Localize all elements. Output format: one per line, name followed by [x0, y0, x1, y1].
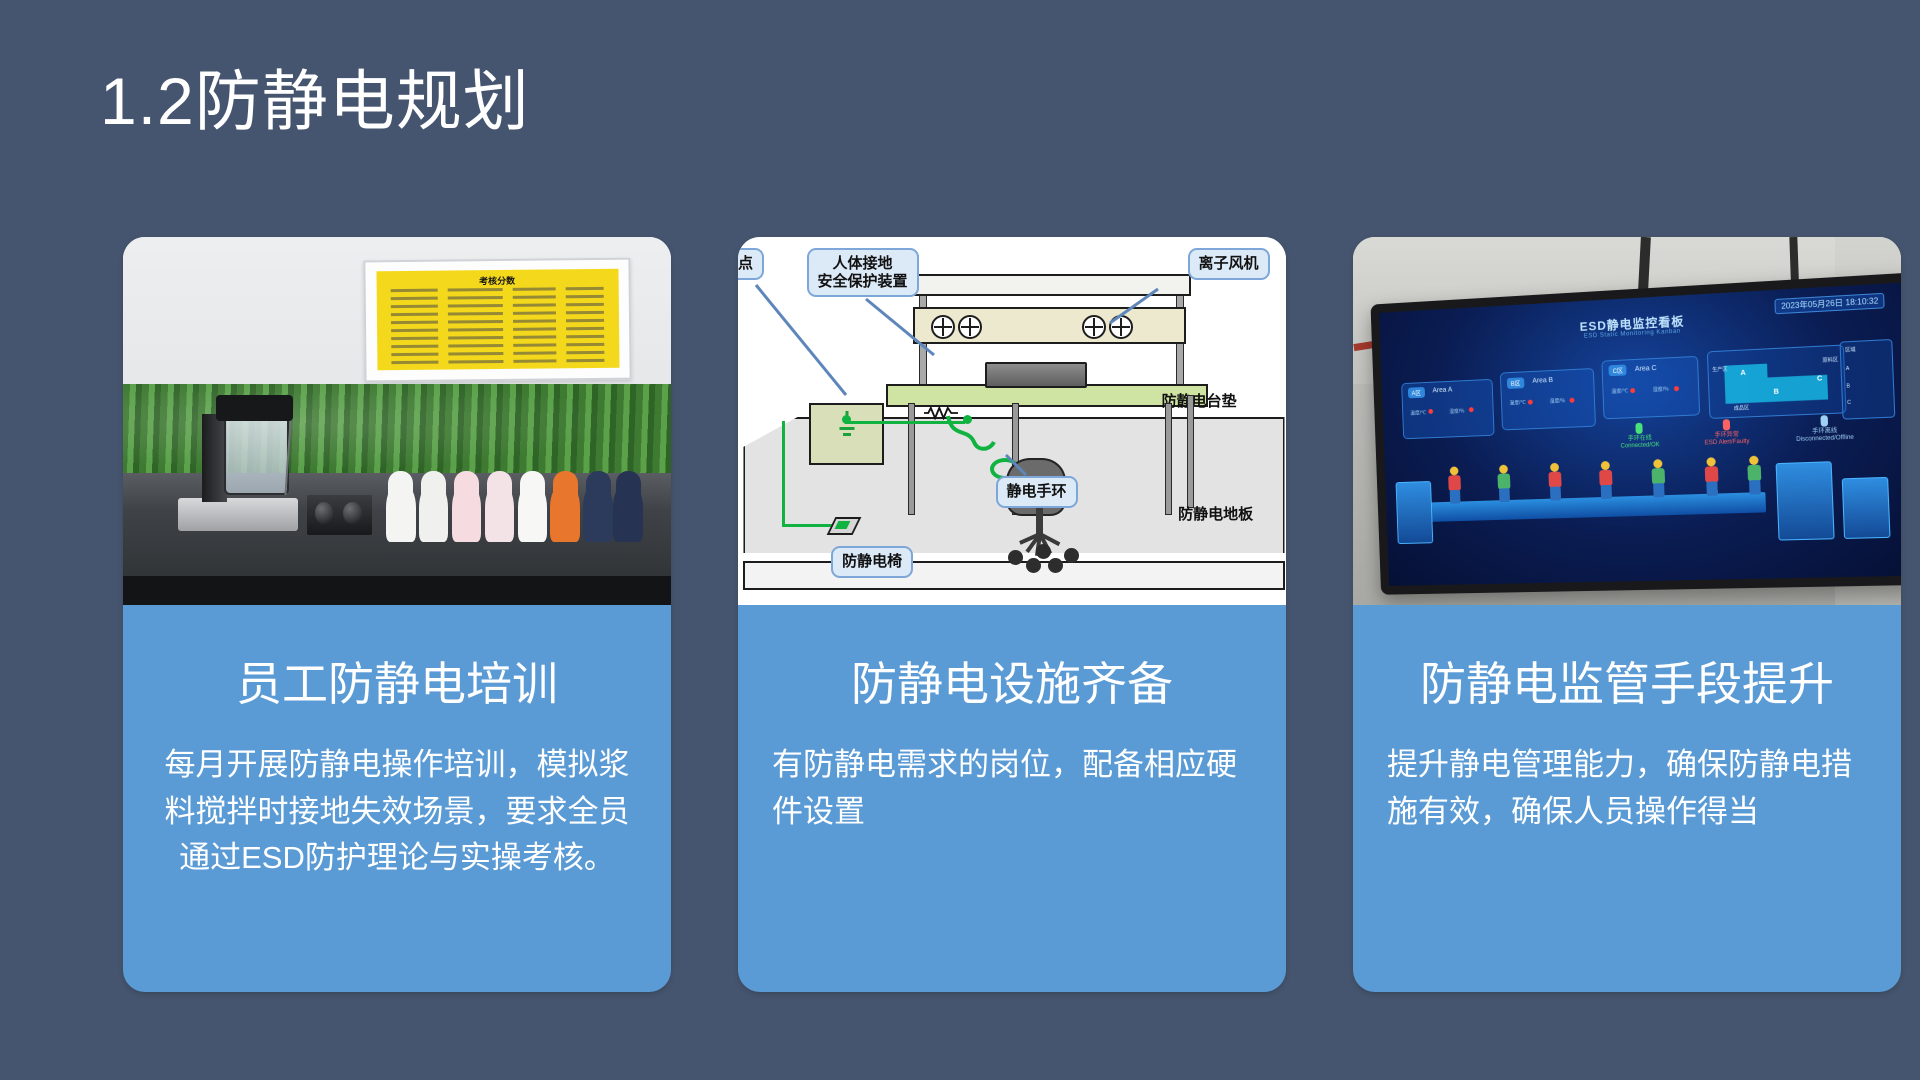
worker-avatar — [1743, 454, 1767, 518]
kanban-factory-map: 生产区 原料区 成品区 A B C — [1706, 344, 1846, 419]
status-dot — [1570, 397, 1575, 402]
esd-kanban-photo: 2023年05月26日 18:10:32 ESD静电监控看板 ESD Stati… — [1353, 237, 1901, 605]
card-1-image: 考核分数 — [123, 237, 671, 605]
bench-leg — [1187, 395, 1194, 507]
card-title: 防静电设施齐备 — [764, 657, 1260, 712]
kanban-area-panel: B区 Area B 温度/℃ 湿度/% — [1500, 368, 1596, 430]
callout-esd-chair: 防静电椅 — [831, 546, 913, 578]
table-row — [391, 351, 604, 359]
fan-port-icon — [931, 315, 955, 339]
slide-root: 1.2防静电规划 考核分数 — [0, 0, 1920, 1080]
legend-connected: 手环在线 Connected/OK — [1620, 421, 1660, 451]
legend-label-cn: 手环离线 — [1812, 427, 1837, 434]
map-label-finished: 成品区 — [1734, 403, 1750, 411]
metric-temperature: 温度/℃ — [1410, 409, 1426, 416]
card-esd-supervision[interactable]: 2023年05月26日 18:10:32 ESD静电监控看板 ESD Stati… — [1353, 237, 1901, 992]
esd-workbench-diagram: 防静电台垫 — [738, 237, 1286, 605]
table-row — [391, 327, 604, 335]
legend-label-en: Disconnected/Offline — [1796, 434, 1854, 442]
metric-temperature: 温度/℃ — [1611, 387, 1628, 395]
table-row — [391, 303, 604, 311]
legend-alert: 手环异常 ESD Alert/Faulty — [1704, 418, 1750, 448]
status-dot — [1428, 409, 1433, 414]
esd-glove — [613, 484, 643, 543]
poster-table — [391, 287, 605, 369]
metric-humidity: 湿度/% — [1653, 385, 1669, 393]
mixer-jar — [224, 410, 288, 495]
table-row — [392, 359, 605, 367]
metric-humidity: 湿度/% — [1549, 397, 1565, 405]
fan-port-icon — [1082, 315, 1106, 339]
legend-label-cn: 手环异常 — [1714, 431, 1739, 438]
area-name: Area A — [1432, 386, 1452, 394]
ground-wire — [782, 524, 837, 527]
legend-label-cn: 手环在线 — [1628, 435, 1652, 442]
control-knob — [343, 502, 362, 524]
worker-avatar — [1647, 458, 1670, 521]
table-row: C — [1847, 399, 1851, 405]
esd-glove — [419, 484, 449, 543]
callout-line-2: 安全保护装置 — [818, 273, 908, 290]
table-row: B — [1846, 382, 1850, 388]
legend-label-en: ESD Alert/Faulty — [1705, 438, 1750, 446]
callout-ion-fan: 离子风机 — [1188, 248, 1270, 280]
machine-unit — [1842, 476, 1891, 538]
grounding-box — [809, 403, 884, 466]
table-row — [391, 311, 604, 319]
upper-shelf — [908, 274, 1191, 296]
fan-port-icon — [958, 315, 982, 339]
status-dot — [1673, 385, 1678, 390]
card-title: 员工防静电培训 — [149, 657, 645, 712]
area-tag: C区 — [1609, 364, 1628, 376]
status-dot — [1469, 407, 1474, 412]
legend-label-en: Connected/OK — [1620, 442, 1659, 449]
area-name: Area C — [1635, 364, 1657, 372]
map-outline — [1724, 360, 1828, 403]
area-tag: A区 — [1408, 387, 1425, 398]
mixer-base — [178, 498, 299, 531]
table-row — [391, 287, 604, 295]
screen-surface: 2023年05月26日 18:10:32 ESD静电监控看板 ESD Stati… — [1379, 282, 1901, 586]
table-row — [391, 319, 604, 327]
worker-avatar — [1544, 462, 1567, 524]
area-tag: B区 — [1507, 376, 1525, 388]
table-header: 区域 — [1845, 346, 1856, 354]
ground-wire — [782, 421, 785, 524]
card-esd-facilities[interactable]: 防静电台垫 — [738, 237, 1286, 992]
page-title: 1.2防静电规划 — [100, 64, 530, 140]
lab-bench-photo: 考核分数 — [123, 237, 671, 605]
status-dot — [1528, 399, 1533, 404]
callout-body-grounding: 人体接地 安全保护装置 — [807, 248, 919, 297]
callout-wrist-strap: 静电手环 — [996, 476, 1078, 508]
fan-port-icon — [1109, 315, 1133, 339]
worker-avatar — [1444, 465, 1466, 526]
esd-glove — [518, 484, 548, 543]
card-description: 每月开展防静电操作培训，模拟浆料搅拌时接地失效场景，要求全员通过ESD防护理论与… — [149, 742, 645, 882]
card-description: 提升静电管理能力，确保防静电措施有效，确保人员操作得当 — [1379, 742, 1875, 835]
label-table-mat: 防静电台垫 — [1162, 390, 1237, 411]
bench-leg — [908, 403, 915, 515]
machine-unit — [1395, 480, 1434, 543]
card-title: 防静电监管手段提升 — [1379, 657, 1875, 712]
table-row — [391, 343, 604, 351]
poster-title: 考核分数 — [376, 273, 618, 289]
area-name: Area B — [1532, 376, 1553, 384]
metric-temperature: 温度/℃ — [1509, 399, 1526, 407]
mixer-head — [216, 395, 293, 421]
card-3-body: 防静电监管手段提升 提升静电管理能力，确保防静电措施有效，确保人员操作得当 — [1353, 657, 1901, 835]
map-label-production: 生产区 — [1712, 365, 1728, 373]
bench-front-edge — [123, 576, 671, 605]
table-row — [391, 335, 604, 343]
machine-unit — [1775, 461, 1835, 540]
legend-offline: 手环离线 Disconnected/Offline — [1795, 413, 1854, 444]
ionizing-fan-unit — [913, 307, 1186, 344]
poster-yellow-area: 考核分数 — [376, 269, 619, 370]
table-row: A — [1846, 366, 1850, 372]
card-description: 有防静电需求的岗位，配备相应硬件设置 — [764, 742, 1260, 835]
label-esd-floor: 防静电地板 — [1178, 503, 1253, 524]
esd-glove — [386, 484, 416, 543]
esd-glove — [583, 484, 613, 543]
card-employee-esd-training[interactable]: 考核分数 — [123, 237, 671, 992]
worker-avatar — [1493, 463, 1515, 525]
callout-line-1: 人体接地 — [833, 255, 893, 272]
card-2-body: 防静电设施齐备 有防静电需求的岗位，配备相应硬件设置 — [738, 657, 1286, 835]
esd-glove — [550, 484, 580, 543]
card-1-body: 员工防静电培训 每月开展防静电操作培训，模拟浆料搅拌时接地失效场景，要求全员通过… — [123, 657, 671, 882]
worker-avatar — [1700, 456, 1724, 520]
kanban-area-table: 区域 A B C — [1840, 338, 1895, 418]
bench-leg — [1165, 403, 1172, 515]
worker-avatar — [1595, 460, 1618, 523]
bench-device — [985, 362, 1088, 388]
card-3-image: 2023年05月26日 18:10:32 ESD静电监控看板 ESD Stati… — [1353, 237, 1901, 605]
callout-grounding-point: 点 — [738, 248, 764, 280]
metric-humidity: 湿度/% — [1449, 407, 1464, 414]
kanban-area-panel: A区 Area A 温度/℃ 湿度/% — [1401, 378, 1494, 439]
esd-chair — [996, 458, 1086, 568]
card-group: 考核分数 — [0, 237, 1920, 997]
esd-glove — [452, 484, 482, 543]
kanban-display: 2023年05月26日 18:10:32 ESD静电监控看板 ESD Stati… — [1370, 272, 1901, 594]
map-label-raw: 原料区 — [1822, 356, 1838, 364]
kanban-area-panel: C区 Area C 温度/℃ 湿度/% — [1602, 355, 1701, 418]
esd-glove — [485, 484, 515, 543]
table-row — [391, 295, 604, 303]
status-dot — [1630, 387, 1635, 392]
card-2-image: 防静电台垫 — [738, 237, 1286, 605]
score-poster: 考核分数 — [363, 258, 631, 383]
wrist-strap-cord — [946, 414, 1006, 456]
